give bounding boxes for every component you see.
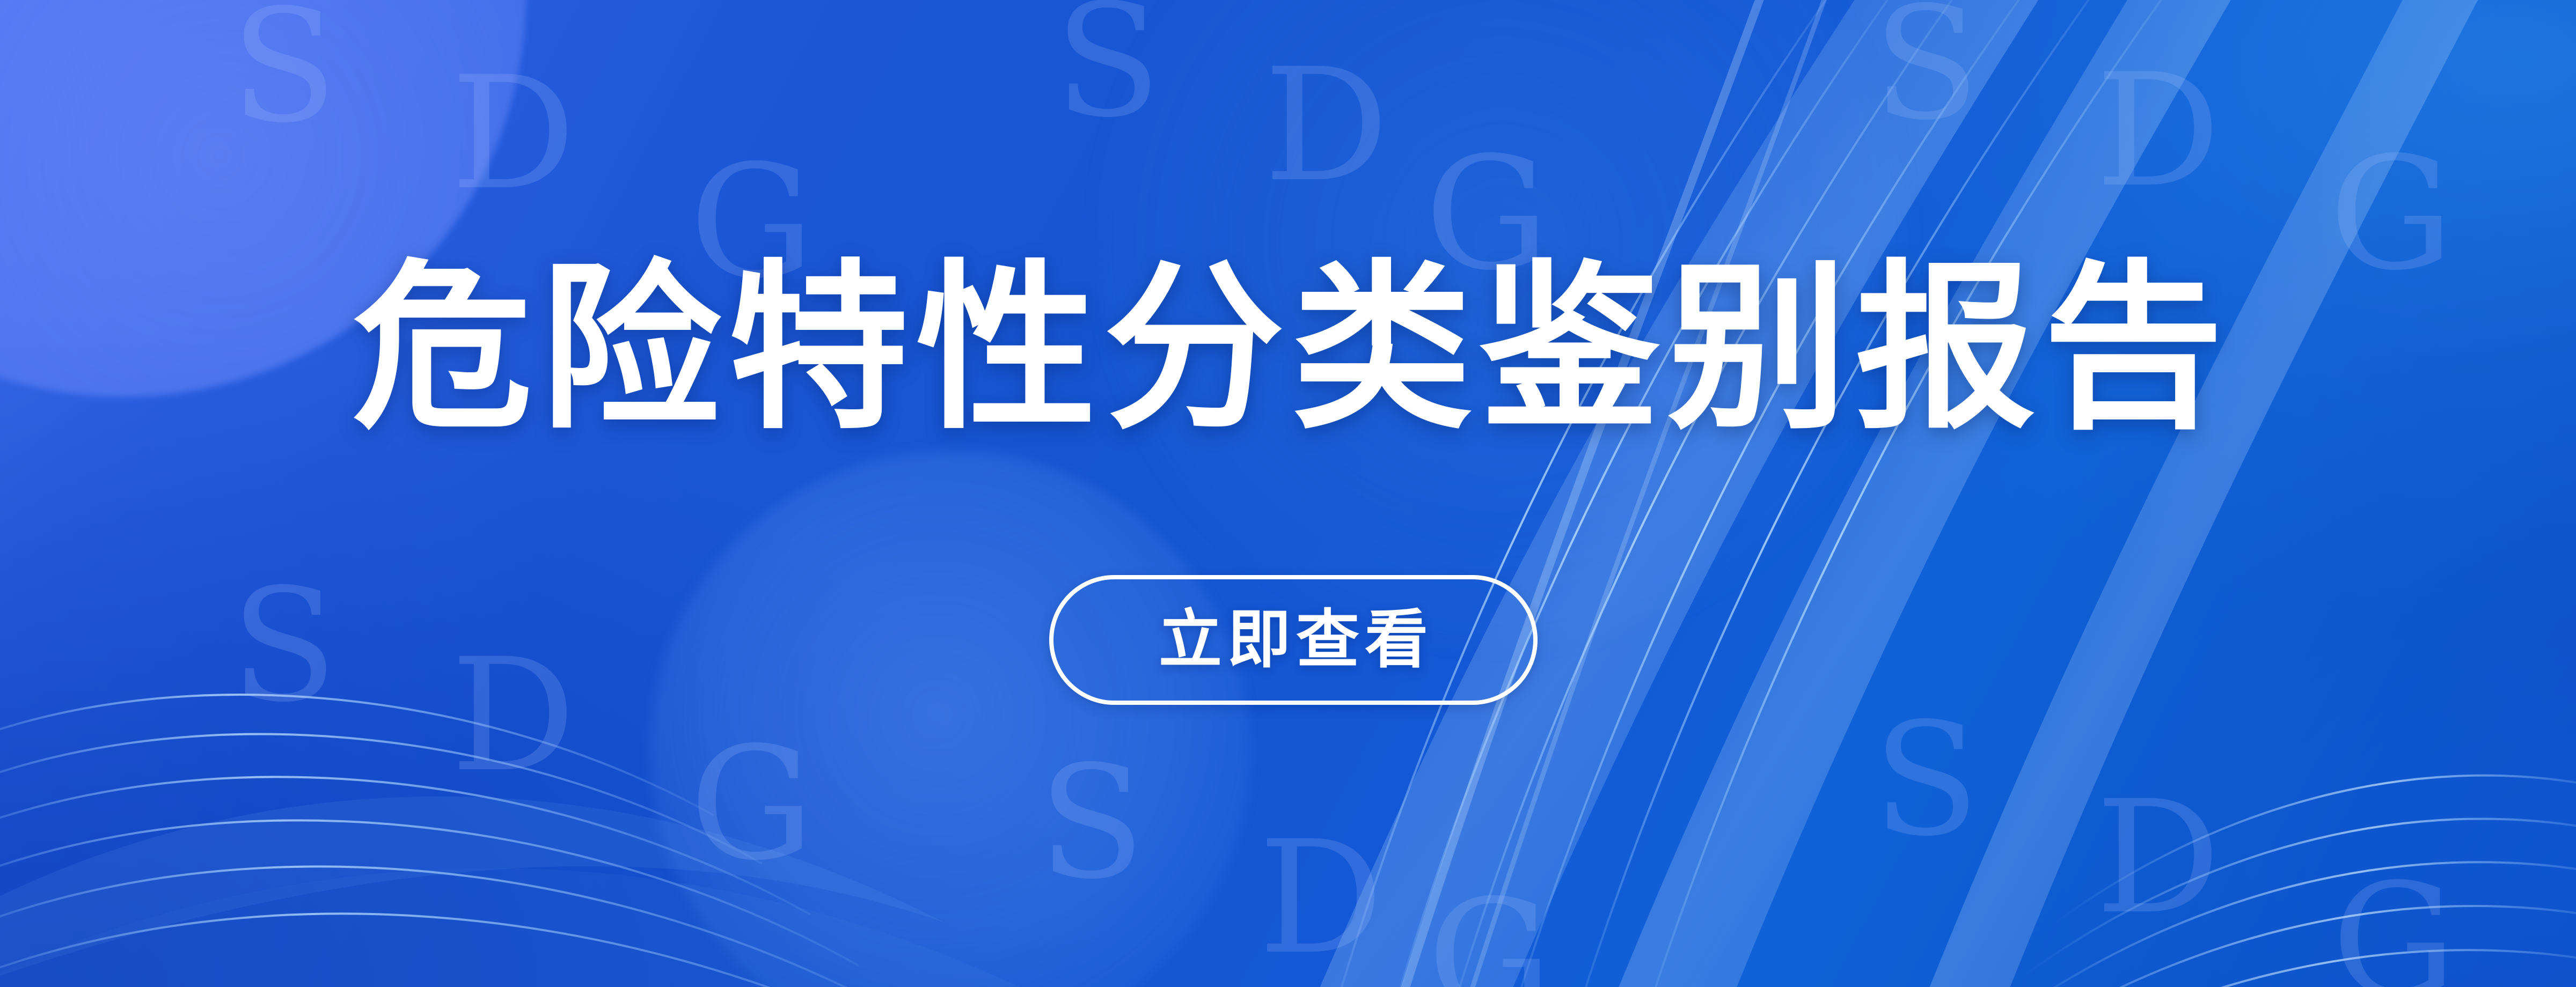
promo-banner: SDGSDGSDGSDGSDGSDG 危险特性分类鉴别报告 立即查看	[0, 0, 2576, 987]
page-title: 危险特性分类鉴别报告	[0, 252, 2576, 447]
view-now-button[interactable]: 立即查看	[1049, 575, 1538, 705]
banner-content: 危险特性分类鉴别报告 立即查看	[0, 0, 2576, 987]
view-now-button-label: 立即查看	[1153, 608, 1433, 672]
